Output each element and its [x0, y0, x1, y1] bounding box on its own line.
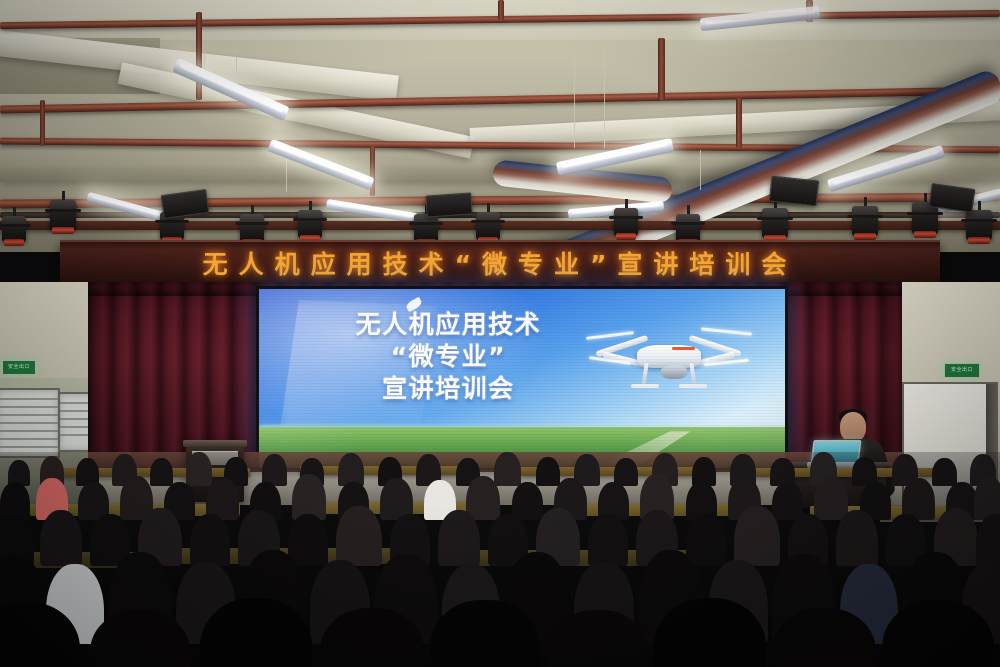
- ceiling-pipe-drop-d: [498, 0, 504, 20]
- audience-member: [536, 457, 560, 486]
- stage-spotlight-7: [476, 212, 500, 240]
- audience-member: [438, 510, 480, 566]
- ceiling-pipe-drop-f: [40, 100, 45, 146]
- event-banner-text: 无人机应用技术“微专业”宣讲培训会: [203, 245, 798, 281]
- stage-spotlight-2: [50, 200, 76, 230]
- exit-sign-right-text: 安全出口: [951, 368, 973, 373]
- audience-member: [836, 510, 878, 566]
- stage-spotlight-13: [966, 210, 992, 240]
- audience-member: [186, 452, 212, 486]
- ceiling-pipe-drop-c: [736, 98, 742, 148]
- audience-member: [336, 506, 382, 566]
- slide-line-3: 宣讲培训会: [280, 373, 617, 405]
- light-hanger-4: [604, 48, 605, 148]
- ceiling-pipe-drop-a: [196, 12, 202, 100]
- ceiling-pipe-drop-g: [370, 146, 375, 196]
- audience-member: [150, 458, 173, 486]
- audience-member: [512, 482, 543, 520]
- audience-member: [466, 476, 500, 520]
- event-banner: 无人机应用技术“微专业”宣讲培训会: [60, 240, 940, 287]
- light-hanger-6: [700, 150, 701, 190]
- exit-sign-right: 安全出口: [944, 363, 980, 378]
- exit-sign-left: 安全出口: [2, 360, 36, 375]
- led-presentation-screen: 无人机应用技术 “微专业” 宣讲培训会: [256, 286, 788, 474]
- audience-member: [588, 514, 628, 566]
- stage-spotlight-9: [676, 214, 700, 242]
- audience-member: [734, 506, 780, 566]
- audience-member: [288, 514, 328, 566]
- light-hanger-3: [574, 48, 575, 148]
- audience-area: [0, 452, 1000, 667]
- audience-member: [190, 514, 230, 566]
- audience-member: [932, 458, 957, 486]
- audience-member: [686, 514, 726, 566]
- stage-spotlight-5: [298, 210, 322, 238]
- ceiling-pipe-drop-b: [658, 38, 665, 100]
- light-hanger-2: [236, 42, 237, 86]
- audience-member: [494, 452, 521, 486]
- stage-spotlight-11: [852, 206, 878, 236]
- stage-spotlight-4: [240, 214, 264, 242]
- wall-speaker-center: [425, 192, 472, 217]
- slide-title-block: 无人机应用技术 “微专业” 宣讲培训会: [280, 309, 617, 405]
- window-left: [0, 388, 60, 458]
- exit-sign-left-text: 安全出口: [8, 365, 30, 370]
- audience-member: [772, 482, 803, 520]
- stage-spotlight-8: [614, 208, 638, 236]
- slide-line-1: 无人机应用技术: [280, 309, 617, 341]
- audience-member: [814, 476, 848, 520]
- stage-spotlight-10: [762, 208, 788, 238]
- slide-line-2: “微专业”: [280, 341, 617, 373]
- presentation-slide: 无人机应用技术 “微专业” 宣讲培训会: [259, 289, 785, 471]
- wall-speaker-right: [769, 176, 819, 207]
- stage-spotlight-1: [2, 216, 26, 242]
- stage-spotlight-6: [414, 214, 438, 242]
- auditorium-photo: 无人机应用技术“微专业”宣讲培训会 安全出口 安全出口: [0, 0, 1000, 667]
- audience-member: [40, 510, 82, 566]
